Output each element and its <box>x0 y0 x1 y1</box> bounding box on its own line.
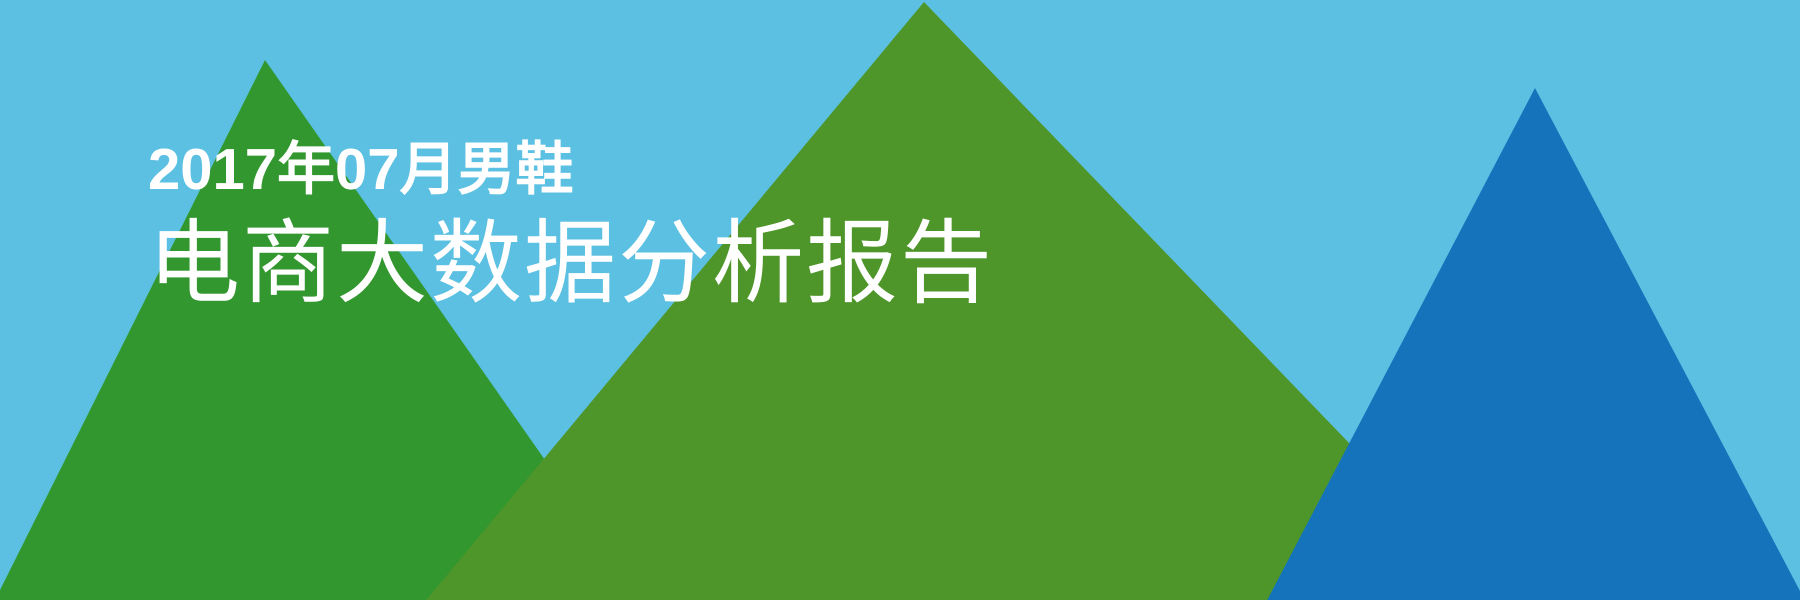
report-cover-banner: 2017年07月男鞋 电商大数据分析报告 <box>0 0 1800 600</box>
background-graphic <box>0 0 1800 600</box>
